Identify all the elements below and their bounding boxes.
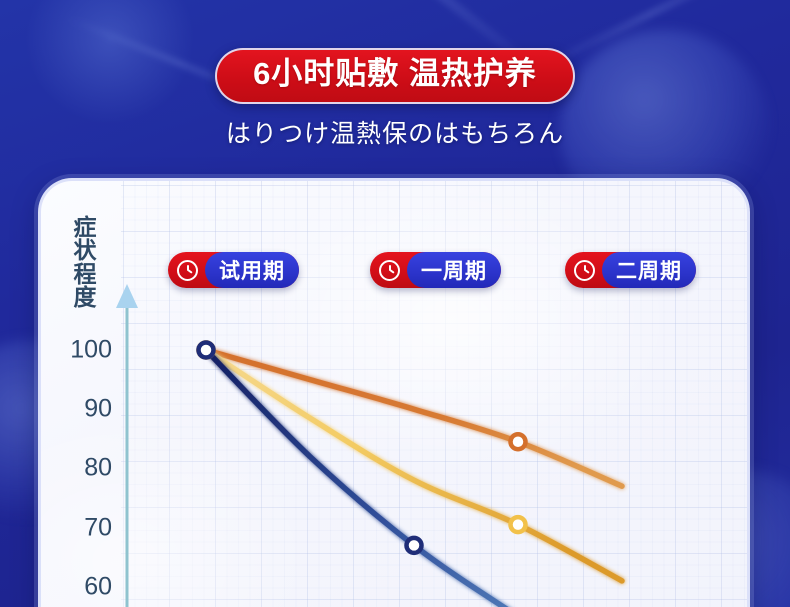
y-axis-label-char: 程 [70,263,100,286]
y-axis-label-char: 状 [70,239,100,262]
y-axis-tick-label: 100 [56,336,112,365]
page-subtitle: はりつけ温熱保のはもちろん [0,114,790,150]
y-axis-label: 症 状 程 度 [70,216,100,310]
y-axis-label-char: 度 [70,286,100,309]
clock-icon [379,260,400,281]
clock-icon [177,260,198,281]
y-axis-tick-label: 90 [56,395,112,424]
legend-item-0[interactable]: 试用期 [168,252,299,288]
chart-card [38,178,750,607]
y-axis-tick-label: 60 [56,572,112,601]
y-axis-tick-label: 80 [56,454,112,483]
legend-item-label: 试用期 [205,252,299,288]
y-axis-tick-label: 70 [56,513,112,542]
legend-item-1[interactable]: 一周期 [370,252,501,288]
promo-banner: 6小时贴敷 温热护养 はりつけ温熱保のはもちろん 症 状 程 度 1009080… [0,0,790,607]
chart-gridlines [121,181,747,607]
banner-header: 6小时贴敷 温热护养 はりつけ温熱保のはもちろん [0,0,790,150]
clock-icon [574,260,595,281]
legend-item-label: 二周期 [602,252,696,288]
y-axis-label-char: 症 [70,216,100,239]
legend-item-2[interactable]: 二周期 [565,252,696,288]
page-title: 6小时贴敷 温热护养 [215,48,575,104]
legend-item-label: 一周期 [407,252,501,288]
